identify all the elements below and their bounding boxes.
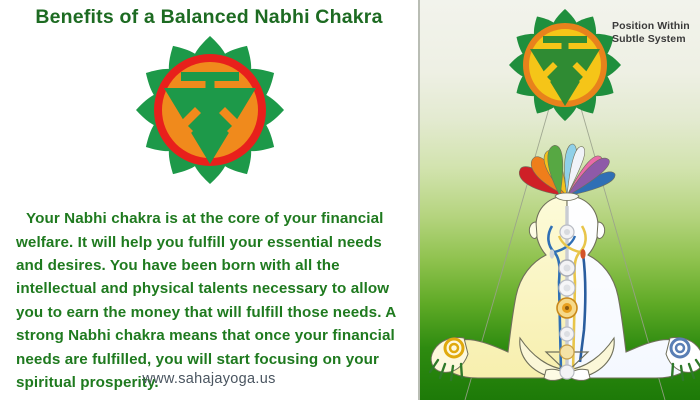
left-content-panel: Benefits of a Balanced Nabhi Chakra (0, 0, 418, 400)
subtle-system-panel-inner: Position Within Subtle System (420, 0, 700, 400)
swadisthan-chakra-node (560, 327, 574, 341)
figure-hand-left (430, 338, 468, 381)
anahata-chakra-node (559, 280, 575, 296)
vishuddhi-chakra-node (559, 260, 575, 276)
panel-caption: Position Within Subtle System (612, 20, 698, 46)
figure-ear-right (597, 222, 605, 238)
website-url: www.sahajayoga.us (0, 371, 418, 387)
page-title: Benefits of a Balanced Nabhi Chakra (0, 6, 418, 29)
nabhi-chakra-emblem-icon (135, 36, 285, 184)
lotus-base (555, 193, 579, 201)
panel-caption-line-2: Subtle System (612, 33, 698, 46)
nabhi-chakra-node (557, 298, 577, 318)
nabhi-chakra-emblem-icon (509, 9, 621, 121)
subtle-system-illustration (420, 0, 700, 400)
figure-ear-left (529, 222, 537, 238)
sahasrara-lotus (519, 144, 615, 201)
subtle-system-panel: Position Within Subtle System (418, 0, 700, 400)
infographic-page: Benefits of a Balanced Nabhi Chakra (0, 0, 700, 400)
agnya-chakra-node (560, 225, 574, 239)
panel-caption-line-1: Position Within (612, 20, 698, 33)
body-paragraph: Your Nabhi chakra is at the core of your… (16, 207, 408, 394)
